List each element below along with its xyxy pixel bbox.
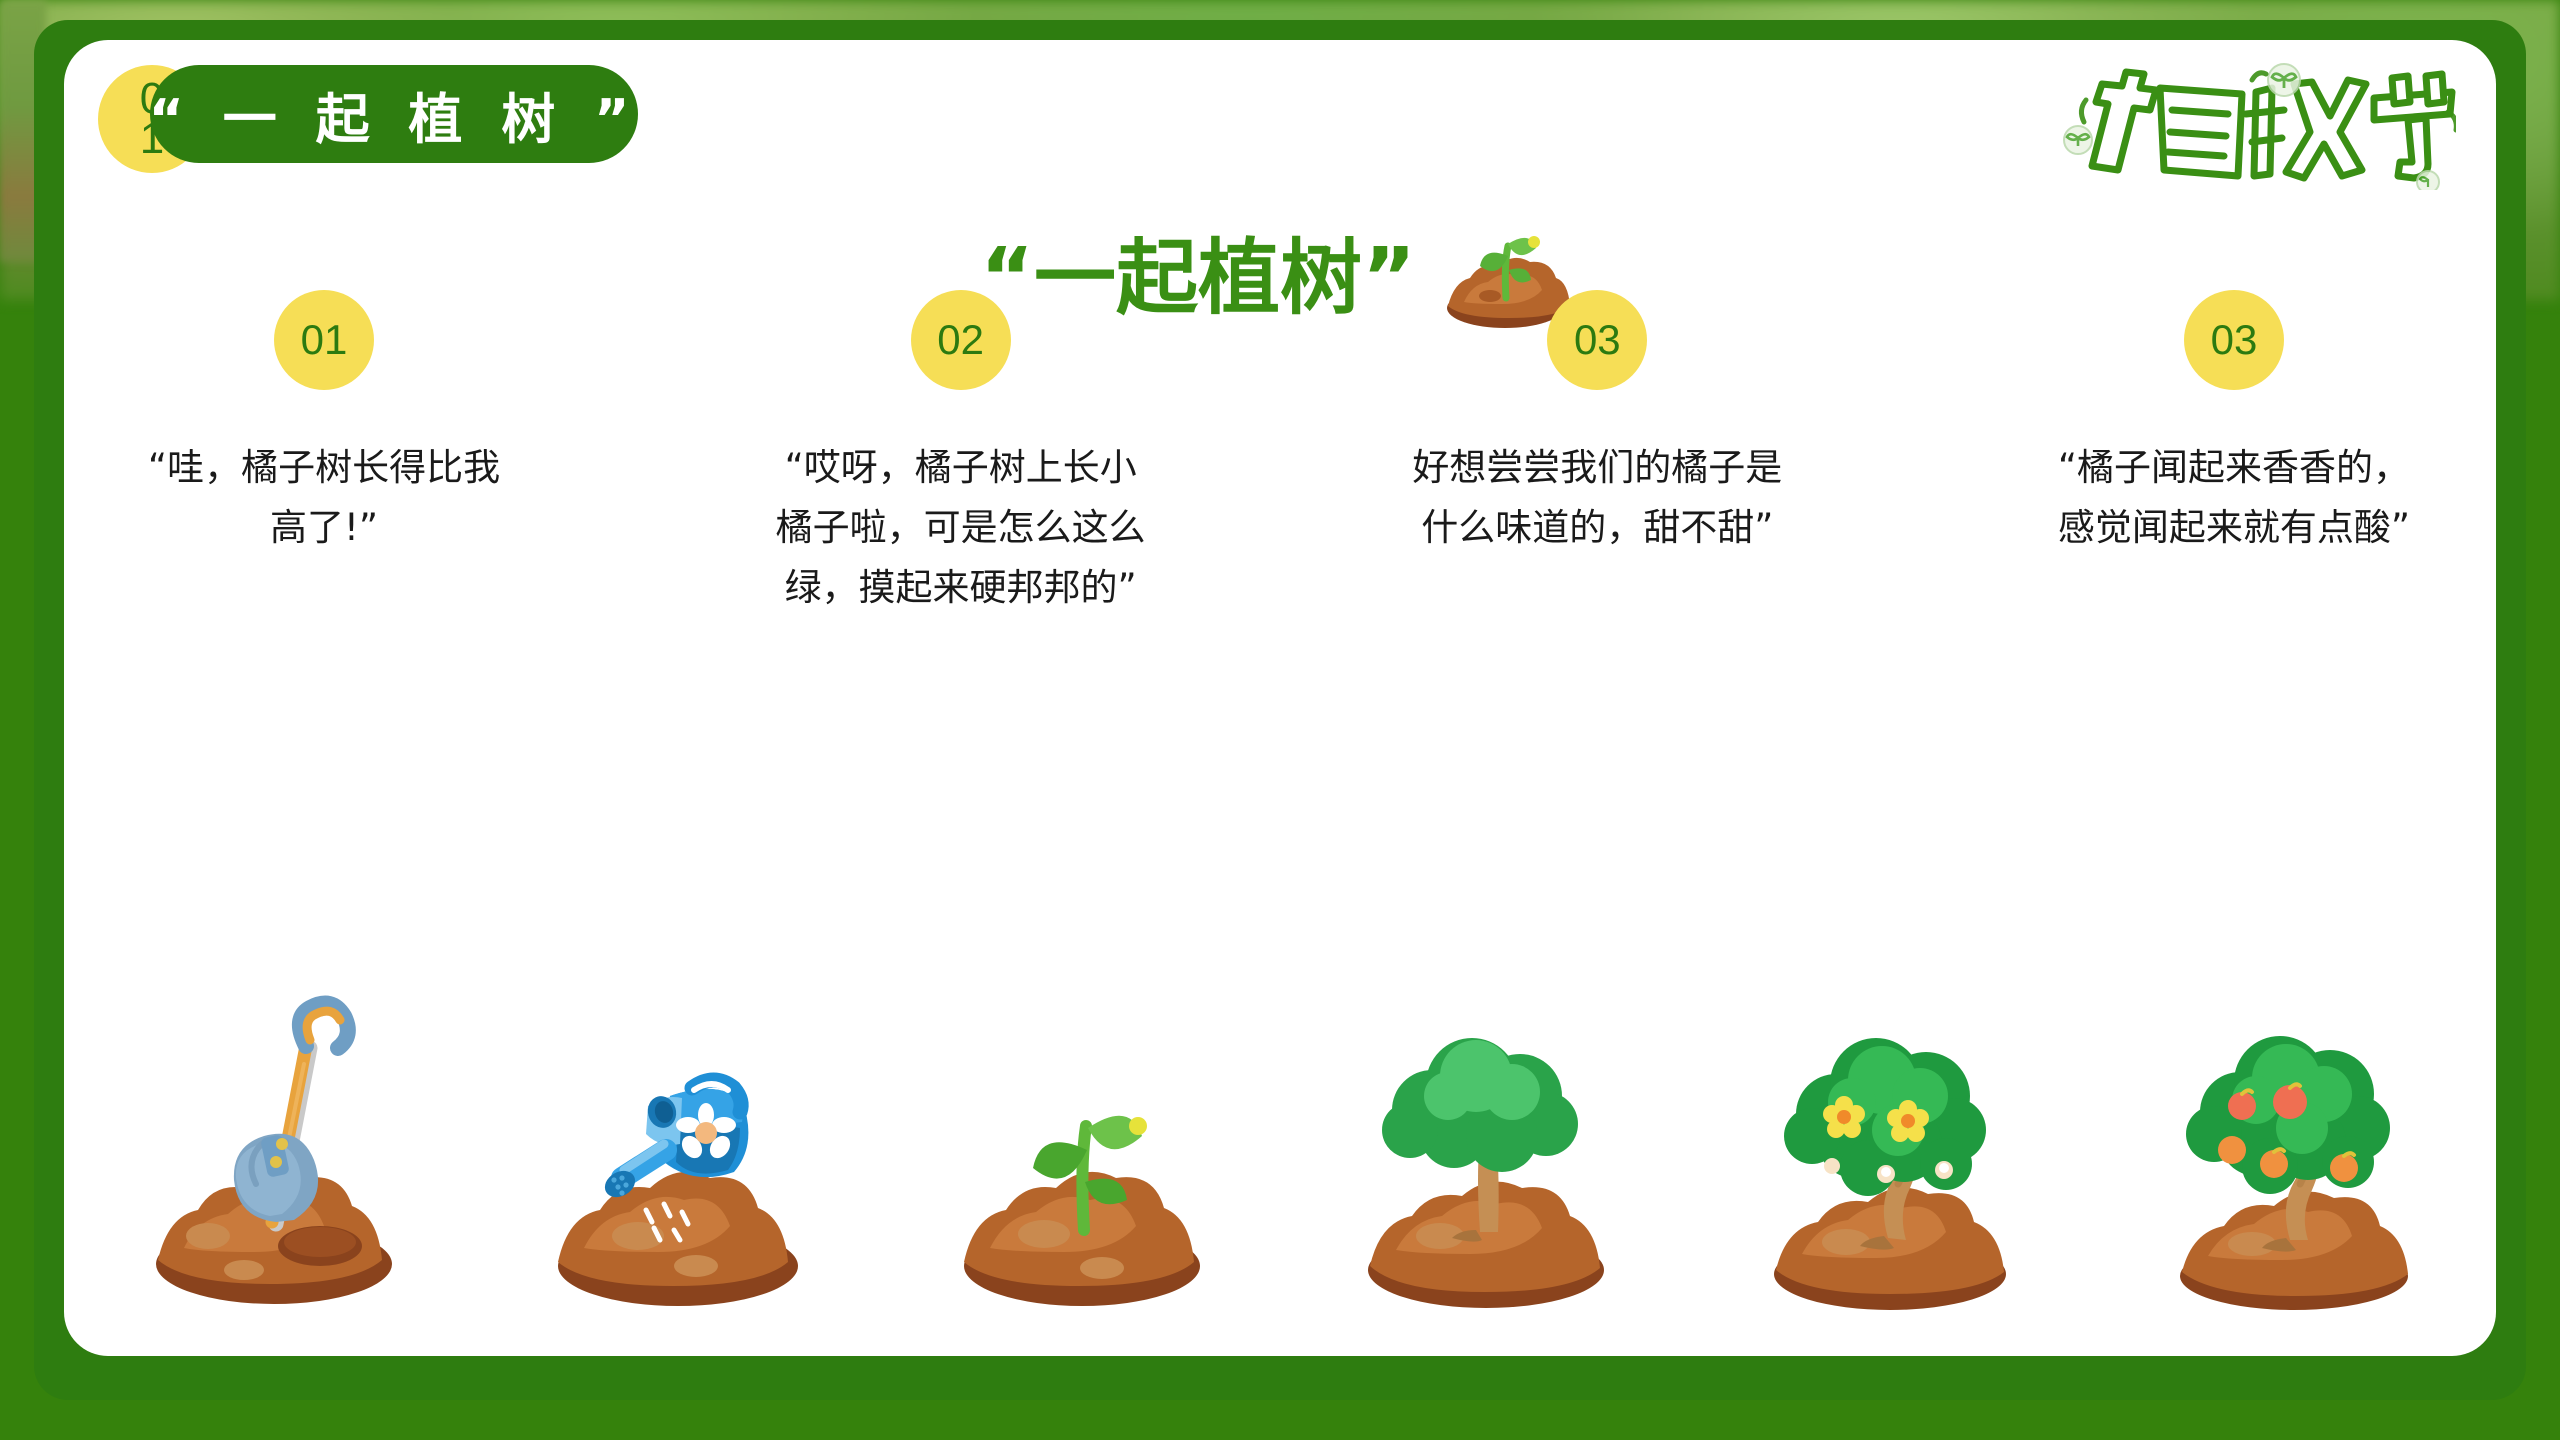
step-item-3: 03 好想尝尝我们的橘子是什么味道的，甜不甜” [1397,290,1797,618]
step-text-1: “哇，橘子树长得比我高了!” [138,438,510,558]
step-number-badge-2: 02 [911,290,1011,390]
slide-canvas: 0 1 “ 一 起 植 树 ” [0,0,2560,1440]
step-item-1: 01 “哇，橘子树长得比我高了!” [124,290,524,618]
step-item-2: 02 “哎呀，橘子树上长小橘子啦，可是怎么这么绿，摸起来硬邦邦的” [761,290,1161,618]
step-text-2: “哎呀，橘子树上长小橘子啦，可是怎么这么绿，摸起来硬邦邦的” [775,438,1147,618]
step-text-3: 好想尝尝我们的橘子是什么味道的，甜不甜” [1411,438,1783,558]
step-number-badge-1: 01 [274,290,374,390]
step-number-badge-3: 03 [1547,290,1647,390]
flowering-tree-illustration [1740,984,2040,1314]
section-title-text: “ 一 起 植 树 ” [149,75,640,154]
fruit-tree-illustration [2144,984,2444,1314]
young-tree-illustration [1336,984,1636,1314]
shovel-in-soil-illustration [124,984,424,1314]
sprout-soil-illustration [932,984,1232,1314]
step-item-4: 03 “橘子闻起来香香的，感觉闻起来就有点酸” [2034,290,2434,618]
growth-stage-illustrations [124,984,2444,1314]
step-number-badge-4: 03 [2184,290,2284,390]
slide-card: 0 1 “ 一 起 植 树 ” [64,40,2496,1356]
steps-row: 01 “哇，橘子树长得比我高了!” 02 “哎呀，橘子树上长小橘子啦，可是怎么这… [124,290,2434,618]
step-text-4: “橘子闻起来香香的，感觉闻起来就有点酸” [2048,438,2420,558]
arbor-day-logo [2056,58,2456,190]
watering-can-soil-illustration [528,984,828,1314]
section-title-pill: “ 一 起 植 树 ” [150,65,638,163]
